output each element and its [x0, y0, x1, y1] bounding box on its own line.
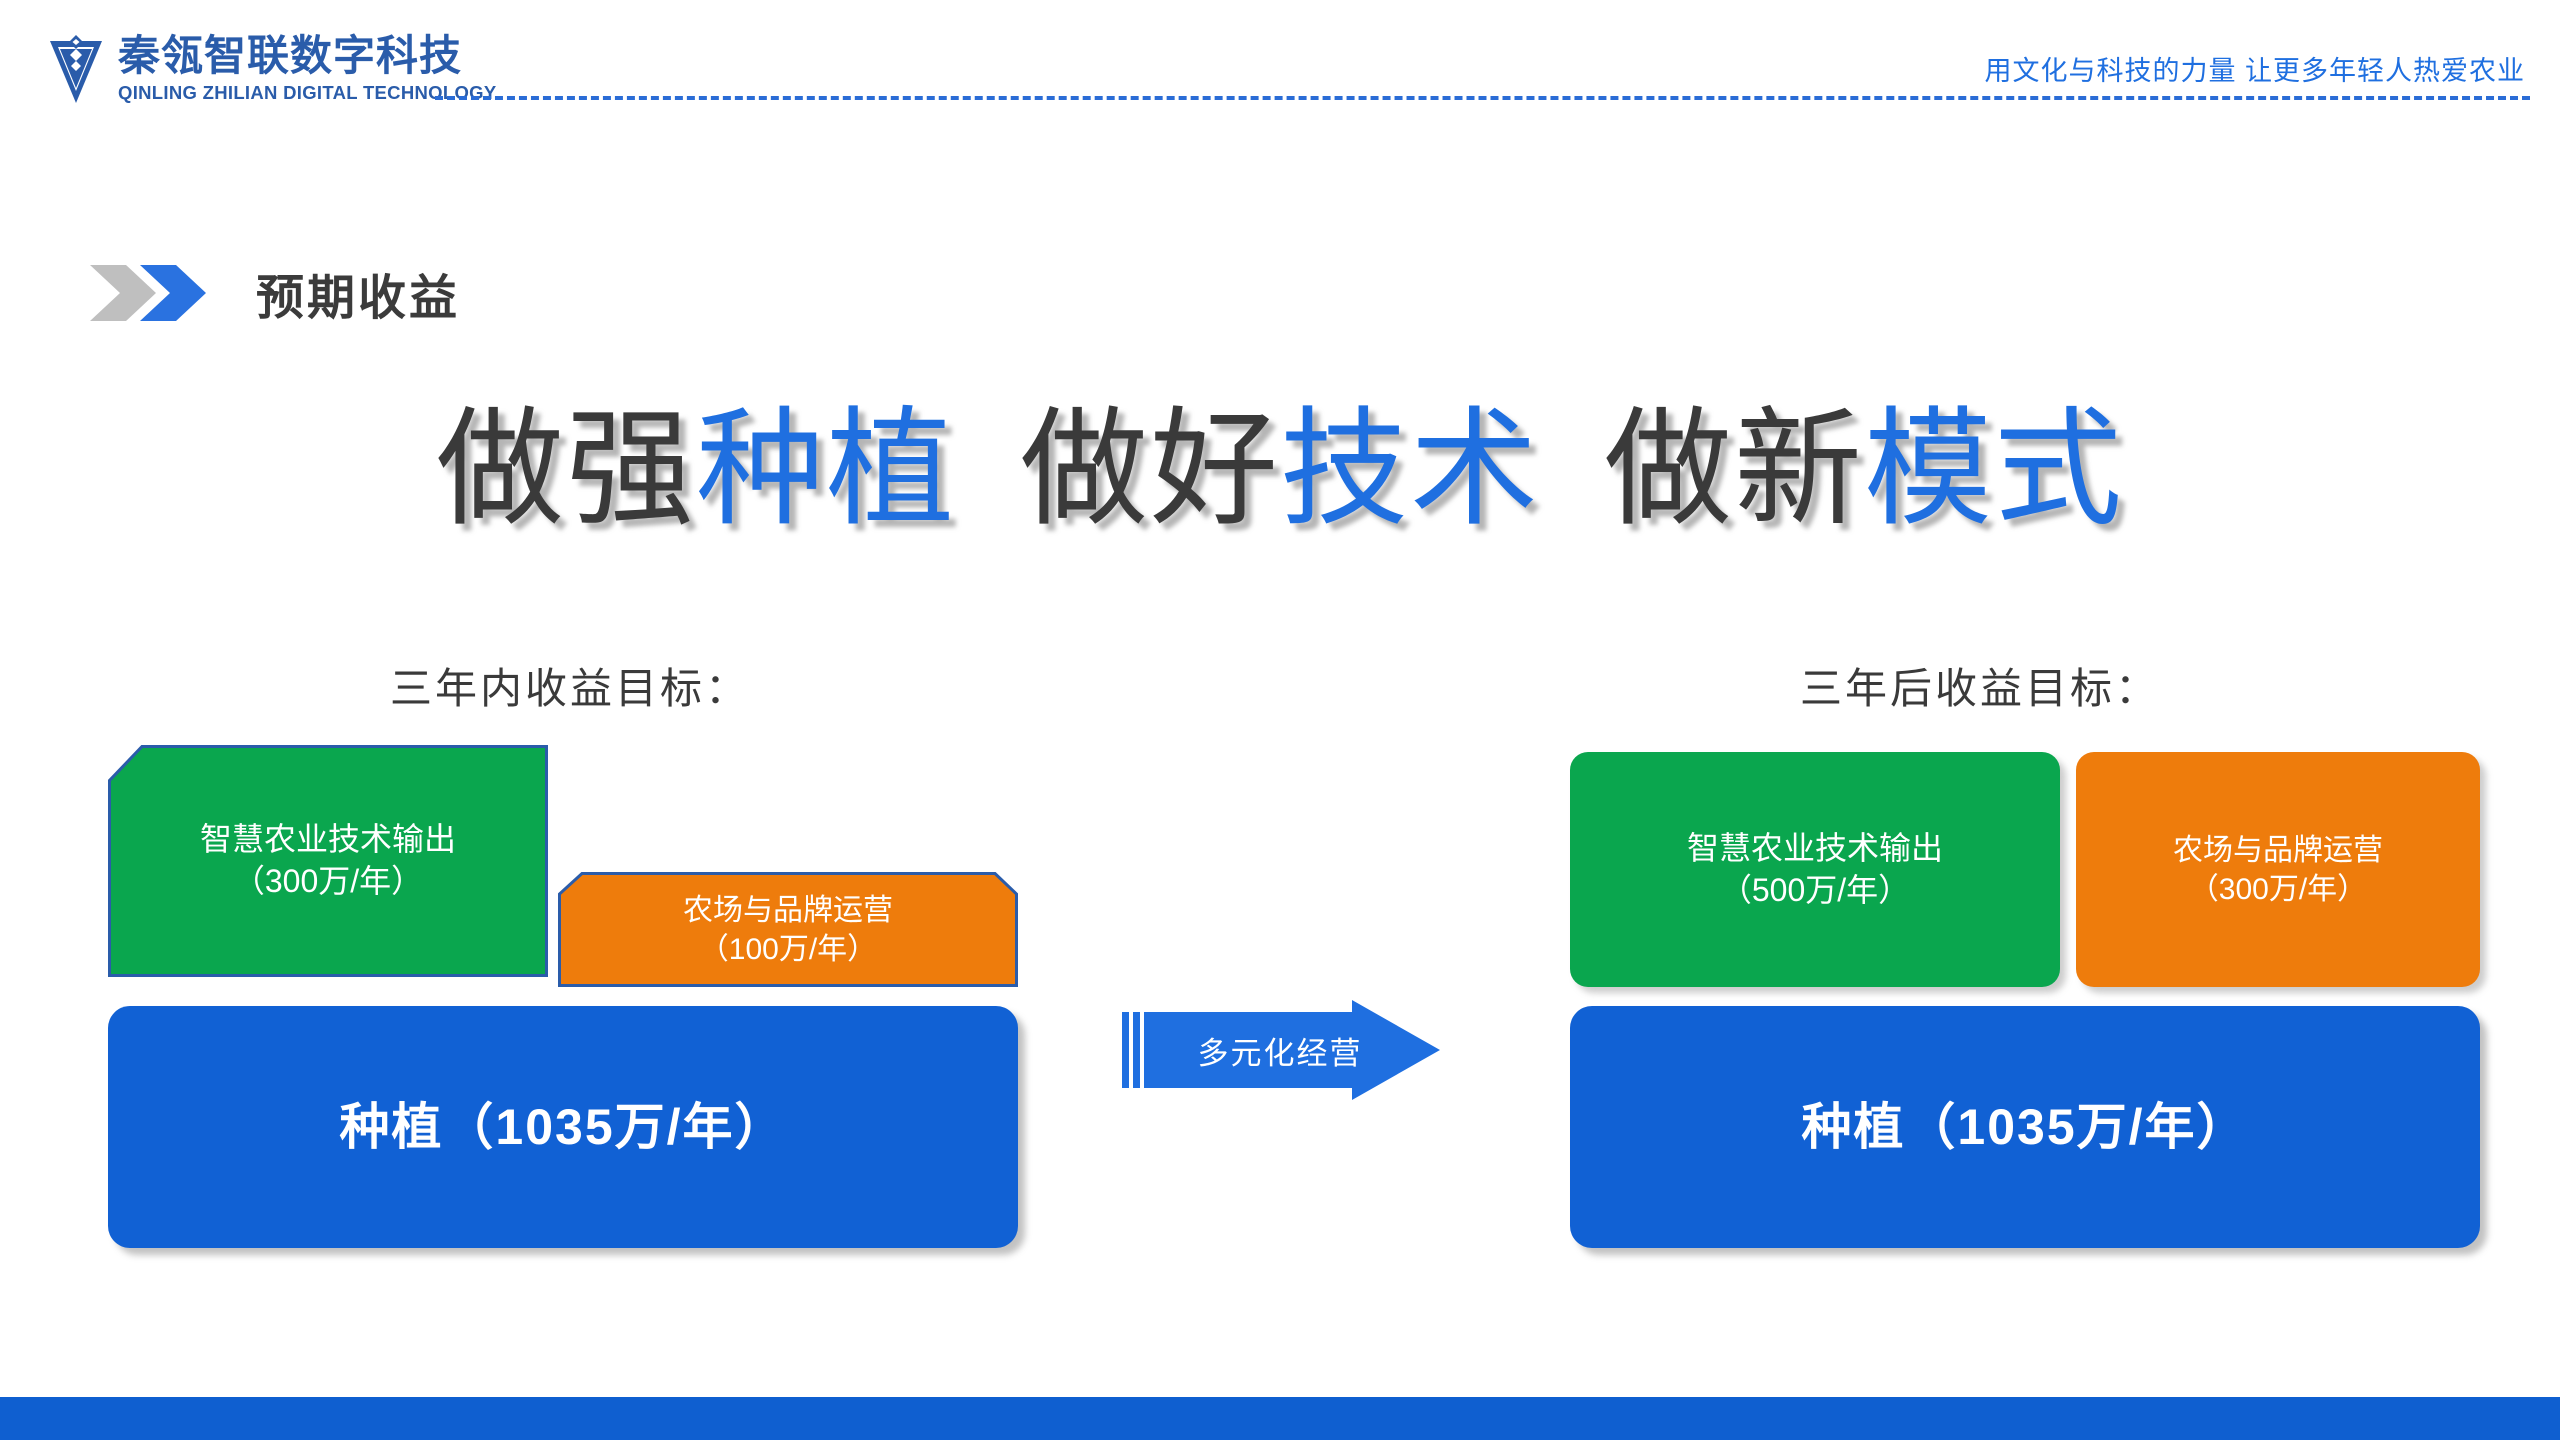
slide-canvas: 秦瓴智联数字科技 QINLING ZHILIAN DIGITAL TECHNOL…	[0, 0, 2560, 1440]
left-box-planting-title: 种植（1035万/年）	[339, 1095, 786, 1160]
logo-text-cn: 秦瓴智联数字科技	[118, 35, 496, 77]
brand-logo: 秦瓴智联数字科技 QINLING ZHILIAN DIGITAL TECHNOL…	[48, 33, 496, 105]
headline-part1-blue: 种植	[696, 399, 956, 541]
left-column-caption: 三年内收益目标：	[390, 655, 750, 716]
header-divider	[435, 96, 2530, 100]
right-box-planting-title: 种植（1035万/年）	[1801, 1095, 2248, 1160]
headline-part1-dark: 做强	[436, 399, 696, 541]
headline-part2-dark: 做好	[1020, 399, 1280, 541]
footer-bar	[0, 1397, 2560, 1440]
left-box-tech-output-title: 智慧农业技术输出	[200, 819, 456, 861]
diversification-arrow-label: 多元化经营	[1170, 1028, 1390, 1073]
double-chevron-icon	[90, 263, 222, 323]
section-title-block: 预期收益	[90, 258, 460, 328]
headline-part3-dark: 做新	[1604, 399, 1864, 541]
headline-part2-blue: 技术	[1280, 399, 1540, 541]
headline: 做强种植做好技术做新模式	[0, 390, 2560, 550]
left-box-planting: 种植（1035万/年）	[108, 1006, 1018, 1248]
header-tagline: 用文化与科技的力量 让更多年轻人热爱农业	[1984, 49, 2525, 88]
right-box-tech-output-value: （500万/年）	[1687, 870, 1943, 912]
left-box-farm-brand-value: （100万/年）	[683, 930, 893, 969]
page-title: 预期收益	[256, 258, 460, 328]
right-column-caption: 三年后收益目标：	[1800, 655, 2160, 716]
left-box-farm-brand-title: 农场与品牌运营	[683, 891, 893, 930]
left-box-tech-output-value: （300万/年）	[200, 861, 456, 903]
right-box-tech-output: 智慧农业技术输出 （500万/年）	[1570, 752, 2060, 987]
slide-header: 秦瓴智联数字科技 QINLING ZHILIAN DIGITAL TECHNOL…	[0, 0, 2560, 130]
right-box-farm-brand-title: 农场与品牌运营	[2173, 831, 2383, 870]
qinling-logo-icon	[48, 33, 104, 105]
left-box-farm-brand: 农场与品牌运营 （100万/年）	[558, 872, 1018, 987]
right-box-tech-output-title: 智慧农业技术输出	[1687, 828, 1943, 870]
right-box-farm-brand: 农场与品牌运营 （300万/年）	[2076, 752, 2480, 987]
right-box-farm-brand-value: （300万/年）	[2173, 870, 2383, 909]
left-box-tech-output: 智慧农业技术输出 （300万/年）	[108, 745, 548, 977]
right-box-planting: 种植（1035万/年）	[1570, 1006, 2480, 1248]
headline-part3-blue: 模式	[1864, 399, 2124, 541]
